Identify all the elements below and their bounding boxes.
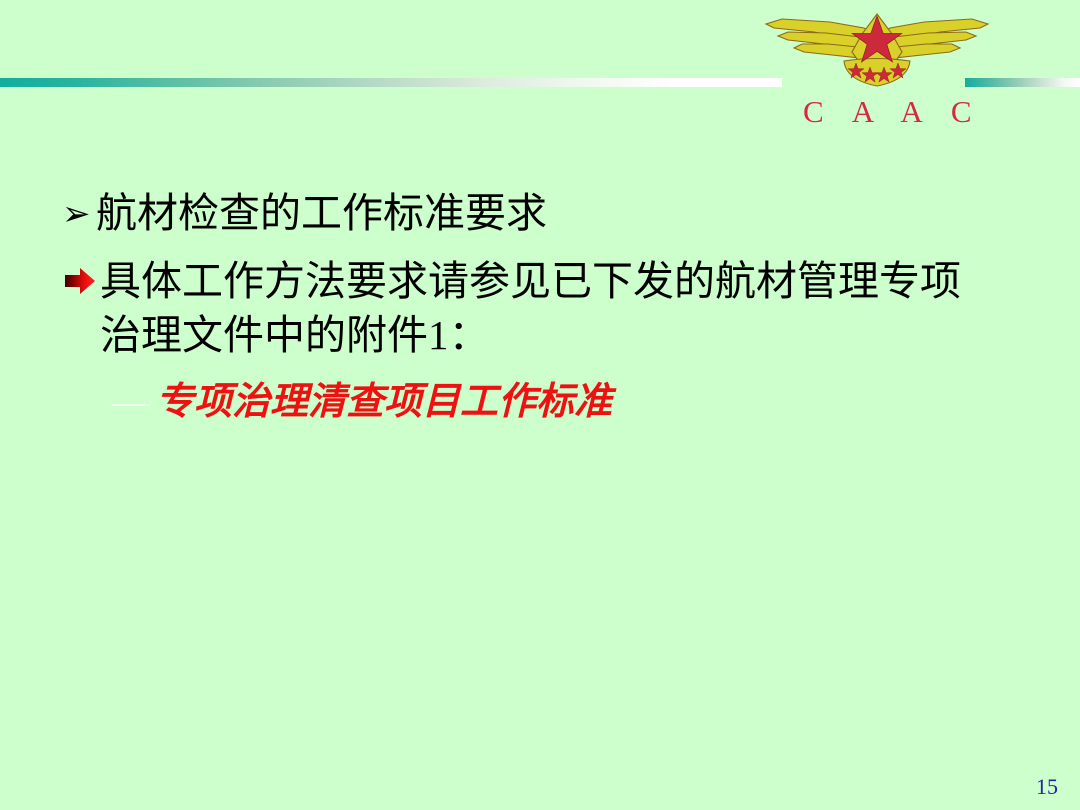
- bullet-text-level1: 航材检查的工作标准要求: [96, 190, 547, 236]
- bullet-item-level3: — 专项治理清查项目工作标准: [0, 376, 1080, 428]
- dash-bullet-icon: —: [112, 376, 150, 428]
- header-rule-left: [0, 78, 782, 87]
- bullet-text-level2: 具体工作方法要求请参见已下发的航材管理专项: [100, 258, 961, 304]
- slide-body: ➢ 航材检查的工作标准要求: [0, 186, 1080, 428]
- bullet-text-level2-continuation-line: 治理文件中的附件1：: [0, 308, 1080, 362]
- bullet-text-level3: 专项治理清查项目工作标准: [156, 381, 612, 423]
- page-number: 15: [1036, 776, 1058, 798]
- bullet-item-level2: 具体工作方法要求请参见已下发的航材管理专项: [0, 254, 1080, 308]
- continuation-text: 治理文件中的附件1：: [100, 312, 490, 358]
- red-arrow-bullet-icon: [64, 267, 96, 295]
- slide-canvas: C A A C ➢ 航材检查的工作标准要求: [0, 0, 1080, 810]
- caac-wordmark: C A A C: [792, 96, 972, 127]
- arrowhead-bullet-icon: ➢: [62, 187, 91, 241]
- bullet-item-level1: ➢ 航材检查的工作标准要求: [0, 186, 1080, 240]
- header-rule-right: [965, 78, 1080, 87]
